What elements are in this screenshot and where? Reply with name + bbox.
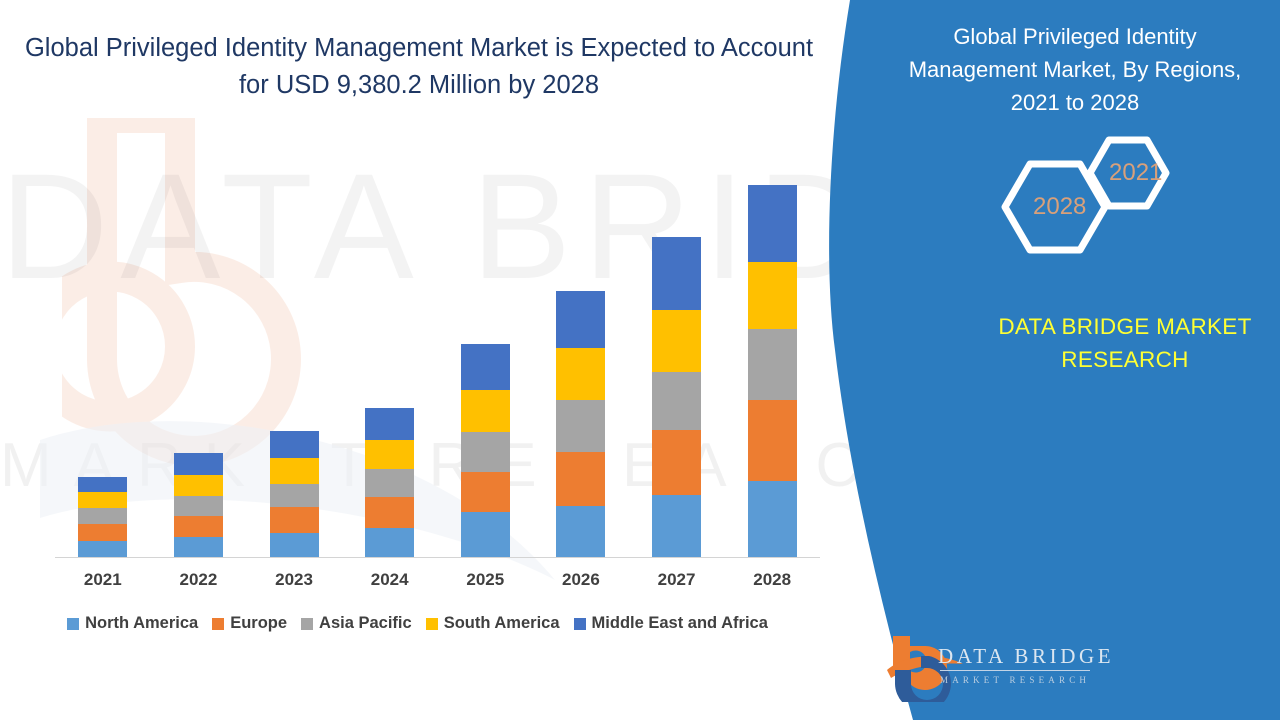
- chart-bar-segment[interactable]: [365, 497, 414, 528]
- chart-x-tick-label: 2025: [438, 570, 534, 590]
- legend-swatch-icon: [426, 618, 438, 630]
- legend-swatch-icon: [301, 618, 313, 630]
- chart-legend-item[interactable]: North America: [67, 614, 198, 633]
- chart-bar-segment[interactable]: [174, 496, 223, 516]
- chart-bar-segment[interactable]: [365, 408, 414, 440]
- chart-stacked-bar[interactable]: [556, 291, 605, 557]
- chart-bar-column: [438, 150, 534, 557]
- chart-bar-segment[interactable]: [652, 372, 701, 430]
- legend-swatch-icon: [212, 618, 224, 630]
- chart-bar-segment[interactable]: [270, 484, 319, 507]
- chart-bar-segment[interactable]: [78, 541, 127, 557]
- panel-heading: Global Privileged Identity Management Ma…: [895, 20, 1255, 119]
- legend-label: North America: [85, 614, 198, 633]
- chart-bar-segment[interactable]: [461, 472, 510, 512]
- chart-bar-segment[interactable]: [748, 329, 797, 400]
- chart-bar-segment[interactable]: [270, 431, 319, 458]
- legend-swatch-icon: [67, 618, 79, 630]
- chart-bars-container: [55, 150, 820, 557]
- chart-bar-column: [342, 150, 438, 557]
- chart-bar-segment[interactable]: [652, 310, 701, 372]
- chart-bar-segment[interactable]: [365, 469, 414, 497]
- chart-legend: North AmericaEuropeAsia PacificSouth Ame…: [0, 614, 835, 633]
- chart-bar-segment[interactable]: [748, 481, 797, 557]
- legend-label: Europe: [230, 614, 287, 633]
- chart-bar-segment[interactable]: [652, 430, 701, 495]
- page-title: Global Privileged Identity Management Ma…: [14, 30, 824, 104]
- chart-bar-segment[interactable]: [748, 400, 797, 481]
- chart-bar-column: [533, 150, 629, 557]
- chart-x-tick-label: 2021: [55, 570, 151, 590]
- panel-heading-line-3: 2021 to 2028: [895, 86, 1255, 119]
- chart-bar-segment[interactable]: [461, 390, 510, 432]
- panel-heading-line-2: Management Market, By Regions,: [895, 53, 1255, 86]
- chart-x-axis-labels: 20212022202320242025202620272028: [55, 570, 820, 590]
- hexagon-label-end-year: 2028: [1033, 193, 1086, 221]
- brand-name-line-1: DATA BRIDGE MARKET: [975, 310, 1275, 343]
- chart-stacked-bar[interactable]: [365, 408, 414, 557]
- brand-name: DATA BRIDGE MARKET RESEARCH: [975, 310, 1275, 376]
- chart-bar-segment[interactable]: [748, 262, 797, 329]
- chart-legend-item[interactable]: South America: [426, 614, 560, 633]
- chart-stacked-bar[interactable]: [78, 477, 127, 557]
- legend-label: Middle East and Africa: [592, 614, 768, 633]
- panel-heading-line-1: Global Privileged Identity: [895, 20, 1255, 53]
- chart-bar-segment[interactable]: [461, 432, 510, 472]
- chart-bar-segment[interactable]: [78, 477, 127, 492]
- chart-bar-segment[interactable]: [748, 185, 797, 262]
- chart-legend-item[interactable]: Europe: [212, 614, 287, 633]
- logo-subtitle: MARKET RESEARCH: [940, 675, 1090, 685]
- chart-stacked-bar[interactable]: [174, 453, 223, 557]
- logo-title: DATA BRIDGE: [938, 644, 1114, 669]
- legend-label: South America: [444, 614, 560, 633]
- chart-x-axis-line: [55, 557, 820, 558]
- infographic-canvas: DATA BRIDGE MARKET RESEARCH Global Privi…: [0, 0, 1280, 720]
- chart-bar-segment[interactable]: [556, 506, 605, 557]
- chart-legend-item[interactable]: Middle East and Africa: [574, 614, 768, 633]
- page-title-line-2: USD 9,380.2 Million by 2028: [276, 71, 599, 99]
- hexagon-label-start-year: 2021: [1109, 159, 1162, 187]
- legend-label: Asia Pacific: [319, 614, 412, 633]
- chart-x-tick-label: 2026: [533, 570, 629, 590]
- chart-bar-segment[interactable]: [174, 475, 223, 496]
- chart-bar-segment[interactable]: [78, 508, 127, 524]
- chart-bar-segment[interactable]: [174, 516, 223, 537]
- chart-bar-segment[interactable]: [174, 453, 223, 475]
- chart-bar-segment[interactable]: [556, 291, 605, 348]
- chart-bar-segment[interactable]: [652, 495, 701, 557]
- chart-x-tick-label: 2022: [151, 570, 247, 590]
- chart-bar-column: [151, 150, 247, 557]
- chart-bar-segment[interactable]: [365, 528, 414, 557]
- chart-stacked-bar[interactable]: [461, 344, 510, 557]
- chart-stacked-bar[interactable]: [270, 431, 319, 557]
- chart-bar-column: [55, 150, 151, 557]
- chart-stacked-bar[interactable]: [748, 185, 797, 557]
- chart-legend-item[interactable]: Asia Pacific: [301, 614, 412, 633]
- chart-bar-column: [629, 150, 725, 557]
- brand-name-line-2: RESEARCH: [975, 343, 1275, 376]
- chart-x-tick-label: 2027: [629, 570, 725, 590]
- chart-stacked-bar[interactable]: [652, 237, 701, 557]
- chart-bar-segment[interactable]: [556, 348, 605, 400]
- chart-bar-column: [246, 150, 342, 557]
- chart-bar-segment[interactable]: [270, 507, 319, 533]
- chart-bar-segment[interactable]: [365, 440, 414, 469]
- chart-bar-segment[interactable]: [461, 344, 510, 390]
- chart-bar-segment[interactable]: [556, 452, 605, 506]
- chart-bar-segment[interactable]: [78, 492, 127, 508]
- legend-swatch-icon: [574, 618, 586, 630]
- stacked-bar-chart: [0, 150, 840, 570]
- chart-x-tick-label: 2023: [246, 570, 342, 590]
- chart-bar-segment[interactable]: [556, 400, 605, 452]
- chart-bar-segment[interactable]: [270, 533, 319, 557]
- hexagon-year-badges: 2028 2021: [975, 125, 1185, 290]
- chart-x-tick-label: 2024: [342, 570, 438, 590]
- chart-bar-segment[interactable]: [174, 537, 223, 557]
- logo-divider: [940, 670, 1090, 671]
- chart-bar-segment[interactable]: [78, 524, 127, 541]
- chart-bar-segment[interactable]: [461, 512, 510, 557]
- chart-bar-segment[interactable]: [652, 237, 701, 310]
- chart-bar-segment[interactable]: [270, 458, 319, 484]
